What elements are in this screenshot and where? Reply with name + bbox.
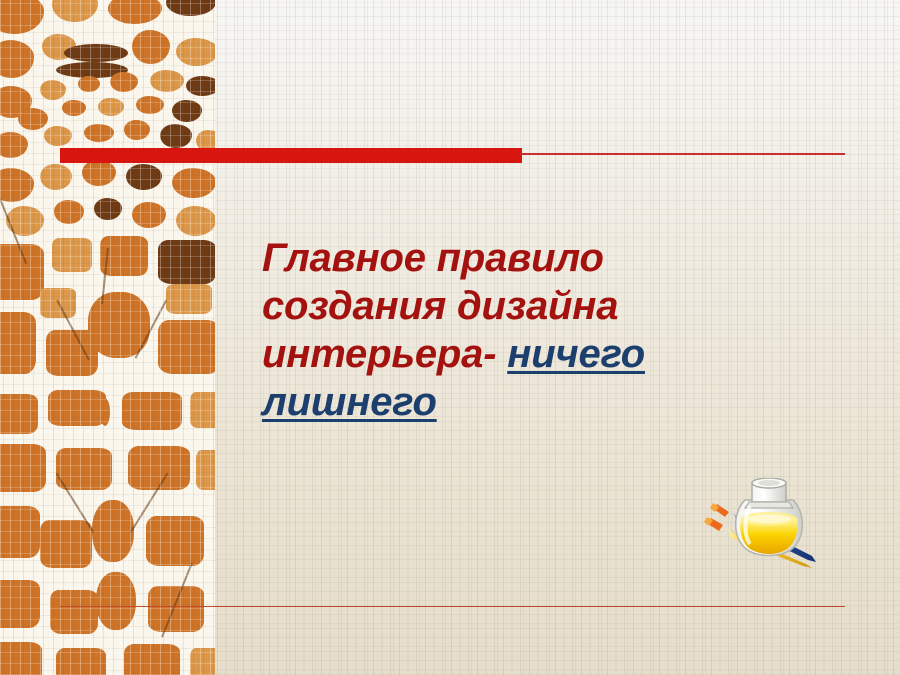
red-accent-bar bbox=[60, 148, 522, 163]
presentation-slide: Главное правило создания дизайна интерье… bbox=[0, 0, 900, 675]
title-line-3-red: интерьера- bbox=[262, 332, 507, 376]
title-line-3-blue: ничего bbox=[507, 332, 645, 376]
title-line-2: создания дизайна bbox=[262, 284, 618, 328]
paint-jar bbox=[736, 478, 803, 556]
title-line-4-blue: лишнего bbox=[262, 380, 437, 424]
giraffe-print-sidebar bbox=[0, 0, 215, 675]
slide-title: Главное правило создания дизайна интерье… bbox=[262, 234, 792, 426]
title-line-1: Главное правило bbox=[262, 236, 604, 280]
red-hairline-rule bbox=[520, 153, 845, 155]
bottom-hairline-rule bbox=[60, 606, 845, 607]
paint-jar-and-brushes-icon bbox=[700, 478, 820, 568]
